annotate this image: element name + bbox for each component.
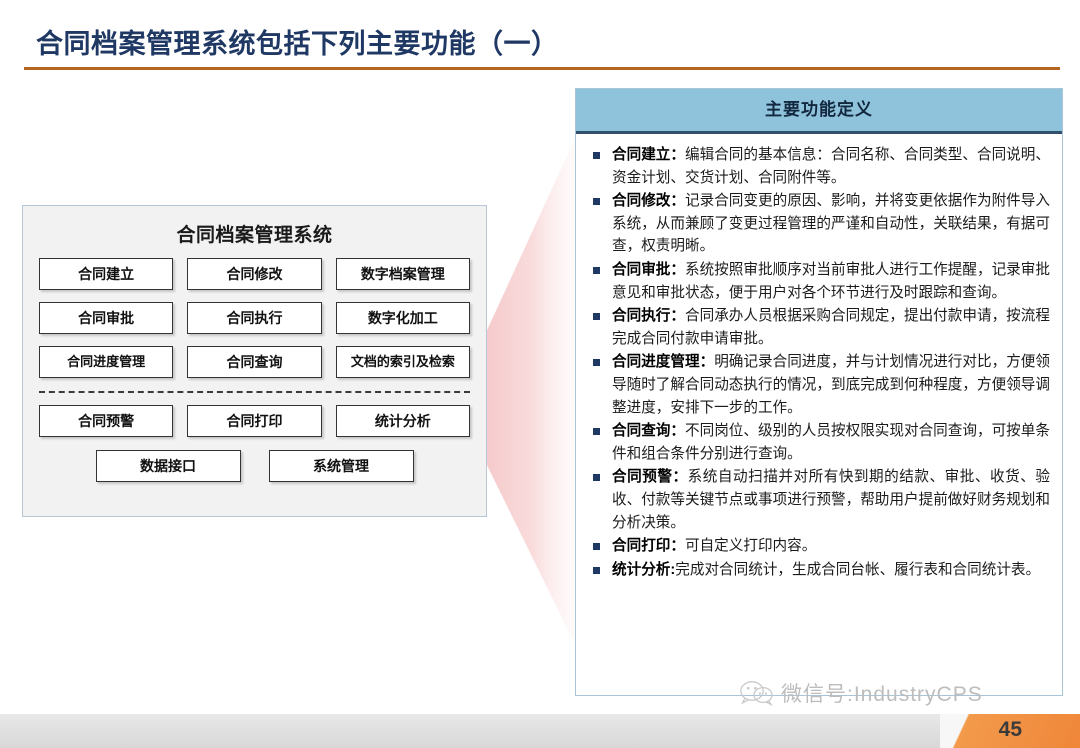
diagram-row-2: 合同审批 合同执行 数字化加工 [23, 302, 486, 334]
list-item: 合同修改：记录合同变更的原因、影响，并将变更依据作为附件导入系统，从而兼顾了变更… [586, 190, 1050, 258]
list-item: 合同执行：合同承办人员根据采购合同规定，提出付款申请，按流程完成合同付款申请审批… [586, 305, 1050, 350]
feature-term: 统计分析: [612, 562, 675, 578]
footer-bar [0, 714, 1080, 748]
diagram-box[interactable]: 合同审批 [39, 302, 173, 334]
diagram-box[interactable]: 合同建立 [39, 258, 173, 290]
feature-term: 合同审批： [612, 262, 685, 278]
list-item: 合同打印：可自定义打印内容。 [586, 535, 1050, 558]
diagram-row-5: 数据接口 系统管理 [23, 450, 486, 482]
diagram-box[interactable]: 数字化加工 [336, 302, 470, 334]
feature-term: 合同建立： [612, 147, 685, 163]
page-title: 合同档案管理系统包括下列主要功能（一） [36, 22, 559, 61]
diagram-box[interactable]: 合同执行 [187, 302, 321, 334]
diagram-row-4: 合同预警 合同打印 统计分析 [23, 405, 486, 437]
system-diagram: 合同档案管理系统 合同建立 合同修改 数字档案管理 合同审批 合同执行 数字化加… [22, 205, 487, 517]
feature-list: 合同建立：编辑合同的基本信息：合同名称、合同类型、合同说明、资金计划、交货计划、… [586, 144, 1050, 581]
list-item: 统计分析:完成对合同统计，生成合同台帐、履行表和合同统计表。 [586, 559, 1050, 582]
diagram-title: 合同档案管理系统 [23, 220, 486, 247]
panel-body: 合同建立：编辑合同的基本信息：合同名称、合同类型、合同说明、资金计划、交货计划、… [576, 134, 1062, 590]
list-item: 合同预警：系统自动扫描并对所有快到期的结款、审批、收货、验收、付款等关键节点或事… [586, 466, 1050, 534]
list-item: 合同查询：不同岗位、级别的人员按权限实现对合同查询，可按单条件和组合条件分别进行… [586, 420, 1050, 465]
page-number: 45 [999, 718, 1022, 742]
list-item: 合同进度管理：明确记录合同进度，并与计划情况进行对比，方便领导随时了解合同动态执… [586, 351, 1050, 419]
feature-term: 合同修改： [612, 193, 685, 209]
feature-term: 合同执行： [612, 308, 685, 324]
panel-header: 主要功能定义 [576, 89, 1062, 134]
list-item: 合同建立：编辑合同的基本信息：合同名称、合同类型、合同说明、资金计划、交货计划、… [586, 144, 1050, 189]
diagram-dashed-divider [39, 391, 470, 393]
diagram-box[interactable]: 数字档案管理 [336, 258, 470, 290]
diagram-box[interactable]: 合同查询 [187, 346, 321, 378]
diagram-box[interactable]: 合同打印 [187, 405, 321, 437]
diagram-row-3: 合同进度管理 合同查询 文档的索引及检索 [23, 346, 486, 378]
title-underline-rule [24, 67, 1060, 70]
diagram-box[interactable]: 统计分析 [336, 405, 470, 437]
feature-term: 合同预警： [612, 469, 688, 485]
feature-text: 完成对合同统计，生成合同台帐、履行表和合同统计表。 [675, 562, 1040, 578]
feature-term: 合同打印： [612, 538, 685, 554]
feature-text: 可自定义打印内容。 [685, 538, 816, 554]
feature-term: 合同进度管理： [612, 354, 714, 370]
diagram-box[interactable]: 合同修改 [187, 258, 321, 290]
diagram-row-1: 合同建立 合同修改 数字档案管理 [23, 258, 486, 290]
diagram-box[interactable]: 数据接口 [96, 450, 241, 482]
diagram-box[interactable]: 系统管理 [269, 450, 414, 482]
diagram-box[interactable]: 合同预警 [39, 405, 173, 437]
function-definition-panel: 主要功能定义 合同建立：编辑合同的基本信息：合同名称、合同类型、合同说明、资金计… [575, 88, 1063, 696]
feature-term: 合同查询： [612, 423, 685, 439]
list-item: 合同审批：系统按照审批顺序对当前审批人进行工作提醒，记录审批意见和审批状态，便于… [586, 259, 1050, 304]
diagram-box[interactable]: 文档的索引及检索 [336, 346, 470, 378]
diagram-box[interactable]: 合同进度管理 [39, 346, 173, 378]
